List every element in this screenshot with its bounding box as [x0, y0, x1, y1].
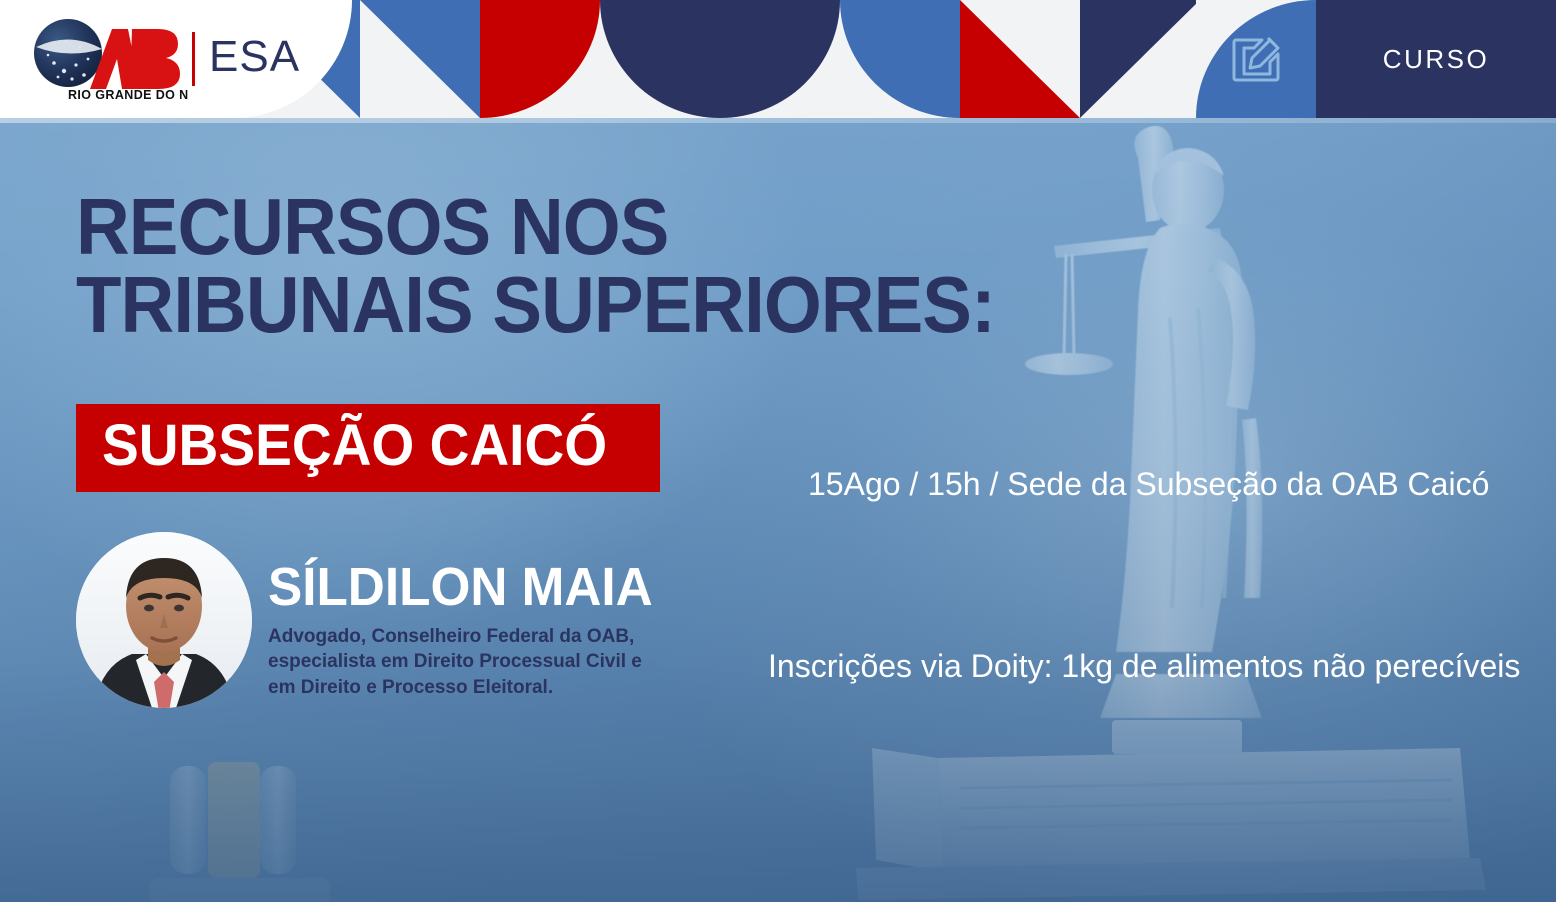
speaker-name: SÍLDILON MAIA: [268, 560, 653, 614]
pattern-tile: [720, 0, 840, 118]
brazil-globe-icon: RIO GRANDE DO NORTE: [28, 17, 188, 101]
category-badge: CURSO: [1316, 0, 1556, 118]
category-label: CURSO: [1383, 44, 1489, 75]
speaker-credentials: Advogado, Conselheiro Federal da OAB, es…: [268, 624, 673, 700]
subsection-banner: SUBSEÇÃO CAICÓ: [76, 404, 660, 492]
pattern-tile: [600, 0, 720, 118]
title-line-1: RECURSOS NOS: [76, 188, 995, 266]
pencil-edit-icon: [1230, 28, 1284, 82]
pattern-tile: [960, 0, 1080, 118]
edit-icon-tile: [1196, 0, 1316, 118]
page-title: RECURSOS NOS TRIBUNAIS SUPERIORES:: [76, 188, 1064, 343]
avatar: [76, 532, 252, 708]
logo-divider: [192, 32, 195, 86]
pattern-tile: [1080, 0, 1200, 118]
speaker-block: SÍLDILON MAIA Advogado, Conselheiro Fede…: [76, 532, 673, 708]
oab-logo-plate: RIO GRANDE DO NORTE ESA: [0, 0, 352, 118]
pattern-tile: [360, 0, 480, 118]
title-line-2: TRIBUNAIS SUPERIORES:: [76, 266, 995, 344]
event-signup-info: Inscrições via Doity: 1kg de alimentos n…: [768, 648, 1520, 685]
subsection-label: SUBSEÇÃO CAICÓ: [102, 417, 607, 475]
event-poster: RIO GRANDE DO NORTE ESA CURSO: [0, 0, 1556, 902]
poster-header: RIO GRANDE DO NORTE ESA CURSO: [0, 0, 1556, 118]
event-datetime-location: 15Ago / 15h / Sede da Subseção da OAB Ca…: [808, 466, 1489, 503]
pattern-tile: [840, 0, 960, 118]
svg-text:RIO GRANDE DO NORTE: RIO GRANDE DO NORTE: [68, 88, 188, 101]
header-underline: [0, 118, 1556, 123]
pattern-tile: [480, 0, 600, 118]
esa-brand-label: ESA: [209, 35, 300, 79]
